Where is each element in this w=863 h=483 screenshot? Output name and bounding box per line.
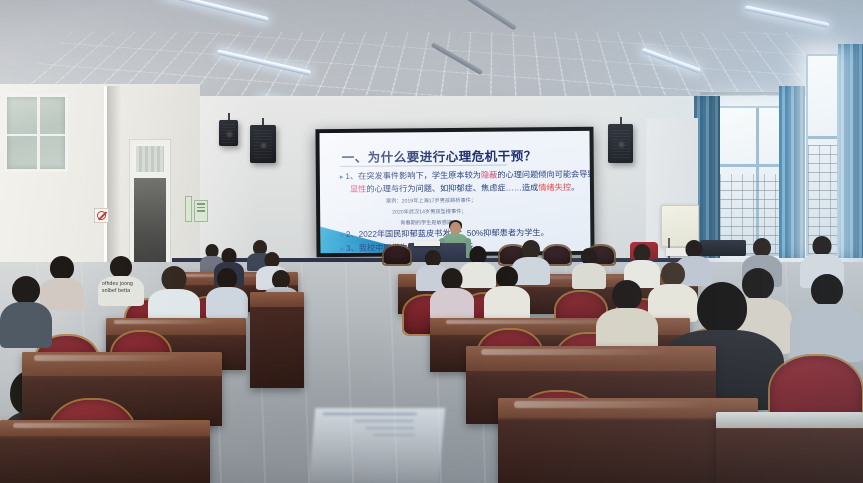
slide-title: 一、为什么要进行心理危机干预？: [342, 145, 537, 166]
person-torso: [206, 287, 248, 319]
floor-slide-reflection: [309, 408, 446, 483]
desk-gloss: [34, 355, 186, 361]
curtain-middle-panel[interactable]: [779, 86, 805, 258]
bullet-1-highlight: 隐蔽: [481, 171, 497, 180]
lecture-room-photo: 一、为什么要进行心理危机干预？ ▸1、在突发事件影响下，学生原本较为隐蔽的心理问…: [0, 0, 863, 483]
desk-gloss: [13, 423, 173, 428]
wall-notice-board: [185, 196, 192, 222]
no-smoking-glyph: [97, 211, 106, 220]
person-head: [50, 256, 74, 280]
speaker-driver: [618, 141, 625, 148]
reflection-line: [323, 413, 417, 415]
desk-top: [250, 292, 304, 307]
bullet-1-mid: 的心理与行为问题、如抑郁症、焦虑症……造成: [366, 183, 538, 194]
bullet-1-highlight-3: 情绪失控: [538, 183, 571, 192]
bullet-1-end: 。: [571, 183, 579, 192]
speaker-driver: [226, 131, 233, 138]
person-head: [110, 256, 132, 278]
person-head: [12, 276, 40, 304]
desk-gloss: [514, 401, 712, 408]
desk-foreground-far-right: [716, 412, 863, 483]
no-smoking-icon: [94, 208, 109, 223]
person-head: [612, 280, 642, 310]
window-mullion-h: [7, 134, 65, 136]
person-torso: [430, 288, 474, 320]
audience-row4-2: [596, 280, 658, 352]
person-head: [697, 282, 747, 334]
person-torso: [484, 286, 530, 320]
wall-speaker-left-lower: [250, 125, 276, 163]
bullet-1-pre: 在突发事件影响下，学生原本较为: [358, 171, 481, 181]
shirt-print-line-2: snlbef betta: [102, 288, 144, 295]
person-head: [496, 266, 518, 288]
daylight-window-far-right: [806, 54, 839, 256]
bullet-1-number: 1、: [345, 172, 358, 181]
person-head: [811, 274, 843, 306]
desk-foreground-left: [0, 420, 210, 483]
panel-line: [197, 210, 205, 212]
window-mullion-h: [808, 136, 837, 139]
bullet-2-number: 2、: [346, 230, 359, 239]
audience-row4-4: [790, 274, 863, 358]
podium-papers: [414, 241, 440, 246]
window-mullion-v: [37, 97, 40, 169]
interior-window: [4, 94, 68, 172]
reflection-line: [354, 420, 414, 422]
speaker-driver: [260, 142, 267, 149]
bullet-1-highlight-2: 显性: [350, 185, 366, 194]
open-doorway: [134, 178, 166, 266]
panel-line: [197, 203, 205, 205]
wall-speaker-left-upper: [219, 120, 238, 146]
door-transom-window: [134, 144, 166, 174]
desk-gloss: [481, 349, 671, 355]
reflection-line: [373, 434, 415, 436]
person-torso: [0, 302, 52, 348]
chair-far-1[interactable]: [384, 246, 410, 264]
curtain-right-panel[interactable]: [838, 44, 863, 258]
audience-row4-1: [0, 276, 52, 346]
slide-subnote-2: 2020年武汉14岁男孩坠楼事件；: [392, 208, 466, 218]
person-head: [813, 236, 832, 256]
desk-front: [716, 429, 863, 483]
audience-printed-shirt: [98, 256, 144, 302]
desk-row4-mid: [250, 292, 304, 388]
desk-front: [250, 307, 304, 388]
bullet-1-post: 的心理问题倾向可能会导致: [497, 170, 590, 180]
desk-top: [716, 412, 863, 428]
shirt-print-line-1: ofhdes joong: [102, 281, 144, 288]
audience-row3-5: [430, 268, 474, 316]
audience-row3-6: [484, 266, 530, 316]
bullet-3-number: 3、: [346, 244, 359, 253]
panel-line: [197, 207, 205, 209]
audience-row3-2: [148, 266, 200, 320]
bullet-marker: ▸: [340, 246, 344, 253]
slide-bullet-1-line-2: 显性的心理与行为问题、如抑郁症、焦虑症……造成情绪失控。: [350, 182, 579, 197]
slide-subnote-1: 案例：2019年上海17岁男孩跳桥事件；: [386, 197, 476, 207]
person-head: [217, 268, 237, 289]
reflection-line: [365, 427, 415, 429]
wall-speaker-right: [608, 124, 633, 163]
person-head: [162, 266, 187, 291]
desk-gloss: [114, 320, 220, 324]
person-head: [442, 268, 463, 290]
slide-title-underline: [340, 165, 507, 167]
bullet-marker: ▸: [340, 174, 344, 181]
desk-front: [0, 438, 210, 483]
bullet-marker: ▸: [340, 232, 344, 239]
shirt-print-text: ofhdes joong snlbef betta: [102, 281, 144, 295]
wall-control-panel[interactable]: [194, 200, 208, 222]
audience-row3-3: [206, 268, 248, 316]
person-torso: [790, 304, 863, 362]
